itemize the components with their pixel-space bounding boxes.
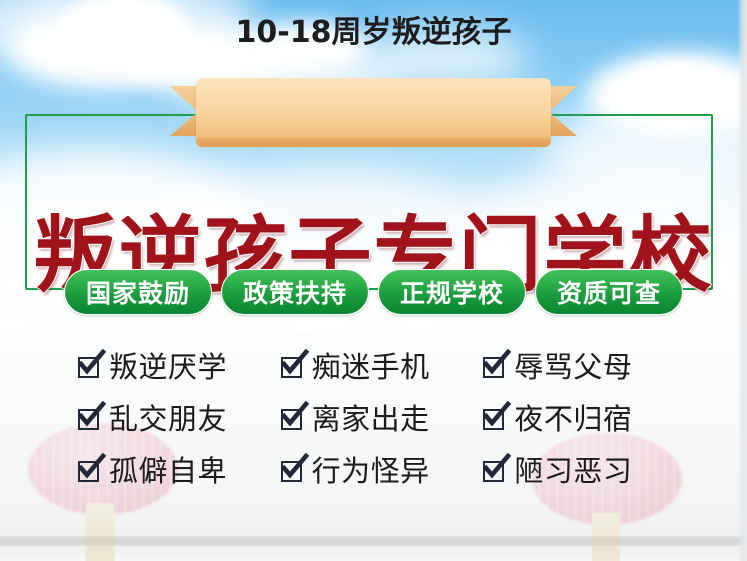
list-item-label: 行为怪异 [312,454,430,488]
list-item[interactable]: 乱交朋友 [78,400,273,438]
ribbon-banner [0,78,747,146]
badge-label: 政策扶持 [243,274,347,310]
list-item[interactable]: 孤僻自卑 [78,452,273,490]
checkbox-checked-icon [281,461,302,482]
ribbon-label: 10-18周岁叛逆孩子 [196,0,551,58]
badge-policy-support[interactable]: 政策扶持 [221,269,369,315]
lantern-tassel [86,503,114,561]
list-item[interactable]: 离家出走 [281,400,476,438]
list-item-label: 痴迷手机 [312,350,430,384]
checkbox-checked-icon [78,357,99,378]
list-item[interactable]: 行为怪异 [281,452,476,490]
badge-verifiable-credentials[interactable]: 资质可查 [535,269,683,315]
badge-accredited-school[interactable]: 正规学校 [378,269,526,315]
badge-national-encouragement[interactable]: 国家鼓励 [64,269,212,315]
badge-label: 正规学校 [400,274,504,310]
lantern-tassel [592,513,620,561]
poster-banner: 10-18周岁叛逆孩子 叛逆孩子专门学校 国家鼓励 政策扶持 正规学校 资质可查… [0,0,747,561]
checkbox-checked-icon [281,357,302,378]
list-item-label: 陋习恶习 [514,454,632,488]
badge-row: 国家鼓励 政策扶持 正规学校 资质可查 [0,266,747,318]
list-item[interactable]: 痴迷手机 [281,348,476,386]
list-item-label: 孤僻自卑 [109,454,227,488]
badge-label: 国家鼓励 [86,274,190,310]
ribbon-body [196,78,551,140]
symptom-checklist: 叛逆厌学 痴迷手机 辱骂父母 乱交朋友 [78,348,678,490]
checkbox-checked-icon [78,461,99,482]
list-item-label: 叛逆厌学 [109,350,227,384]
list-item-label: 乱交朋友 [109,402,227,436]
list-item-label: 辱骂父母 [514,350,632,384]
list-item[interactable]: 辱骂父母 [483,348,678,386]
list-item[interactable]: 叛逆厌学 [78,348,273,386]
checkbox-checked-icon [483,357,504,378]
list-item[interactable]: 夜不归宿 [483,400,678,438]
checkbox-checked-icon [483,461,504,482]
checkbox-checked-icon [78,409,99,430]
list-item[interactable]: 陋习恶习 [483,452,678,490]
checkbox-checked-icon [281,409,302,430]
badge-label: 资质可查 [557,274,661,310]
list-item-label: 夜不归宿 [514,402,632,436]
checkbox-checked-icon [483,409,504,430]
list-item-label: 离家出走 [312,402,430,436]
